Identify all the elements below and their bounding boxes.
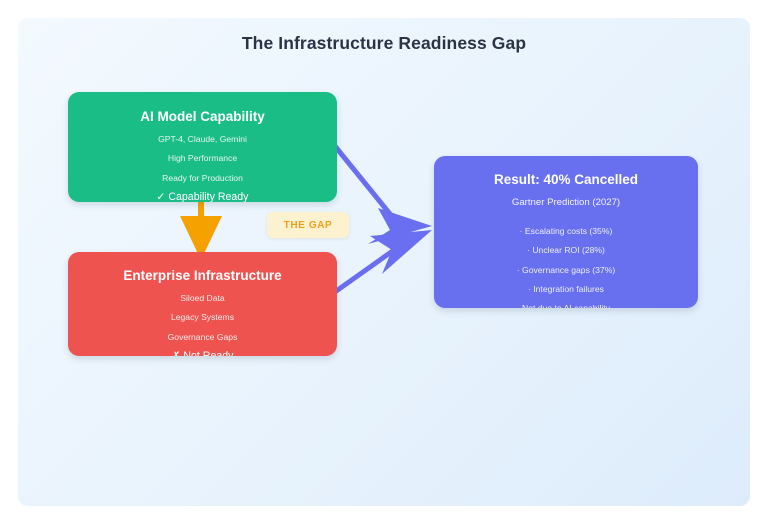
- node-item: · Unclear ROI (28%): [434, 241, 698, 261]
- node-item: · Integration failures: [434, 280, 698, 300]
- node-ai-model-capability[interactable]: AI Model Capability GPT-4, Claude, Gemin…: [68, 92, 337, 202]
- node-item: Legacy Systems: [68, 313, 337, 322]
- node-item: Governance Gaps: [68, 333, 337, 342]
- the-gap-badge: THE GAP: [267, 212, 349, 238]
- node-title: AI Model Capability: [68, 110, 337, 124]
- diagram-canvas: The Infrastructure Readiness Gap AI Mode…: [18, 18, 750, 506]
- page-title: The Infrastructure Readiness Gap: [18, 33, 750, 54]
- node-item: · Governance gaps (37%): [434, 260, 698, 280]
- node-title: Result: 40% Cancelled: [434, 173, 698, 187]
- node-subtitle: Gartner Prediction (2027): [434, 198, 698, 208]
- node-item: GPT-4, Claude, Gemini: [68, 135, 337, 144]
- node-item: · Escalating costs (35%): [434, 221, 698, 241]
- node-footnote: Not due to AI capability: [434, 304, 698, 308]
- node-enterprise-infrastructure[interactable]: Enterprise Infrastructure Siloed Data Le…: [68, 252, 337, 356]
- node-item: High Performance: [68, 154, 337, 163]
- status-badge: ✗ Not Ready: [68, 351, 337, 356]
- flow-arrow-infrastructure-to-result: [332, 230, 432, 294]
- node-result-cancelled[interactable]: Result: 40% Cancelled Gartner Prediction…: [434, 156, 698, 308]
- node-title: Enterprise Infrastructure: [68, 269, 337, 283]
- node-item: Siloed Data: [68, 294, 337, 303]
- node-item: Ready for Production: [68, 174, 337, 183]
- node-bullet-list: · Escalating costs (35%) · Unclear ROI (…: [434, 221, 698, 299]
- status-badge: ✓ Capability Ready: [68, 192, 337, 202]
